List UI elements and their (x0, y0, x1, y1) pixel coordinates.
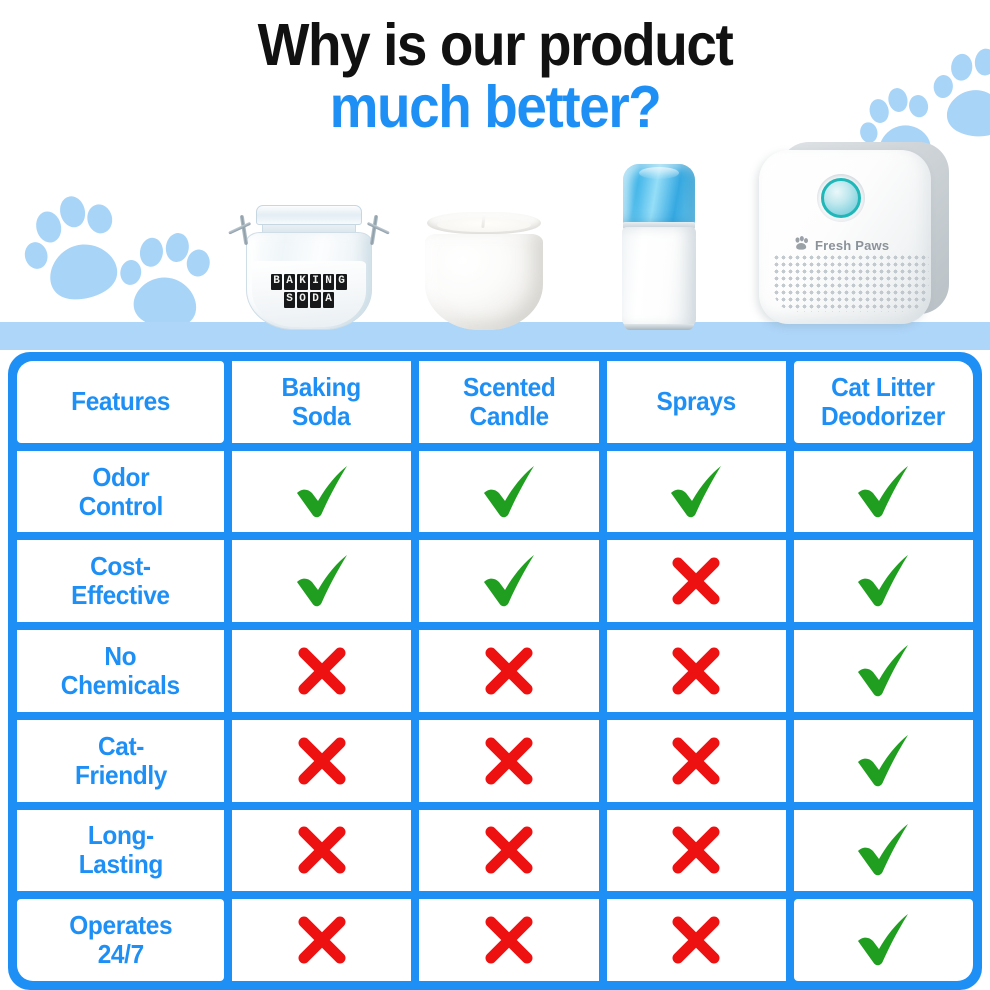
table-row: OdorControl (17, 451, 973, 533)
cell-long-lasting-scented-candle (419, 810, 598, 892)
feature-label: Operates24/7 (69, 911, 172, 969)
table-header-cell-baking-soda: BakingSoda (232, 361, 411, 443)
device-power-button (817, 174, 865, 222)
cell-operates-24-7-baking-soda (232, 899, 411, 981)
product-baking-soda-jar: BAKING SODA (238, 205, 380, 330)
table-row: Cat-Friendly (17, 720, 973, 802)
cell-odor-control-sprays (607, 451, 786, 533)
feature-cell-odor-control: OdorControl (17, 451, 224, 533)
cross-icon (481, 912, 537, 968)
cell-no-chemicals-scented-candle (419, 630, 598, 712)
cell-cat-friendly-sprays (607, 720, 786, 802)
check-icon (291, 552, 353, 610)
check-icon (665, 463, 727, 521)
cross-icon (294, 733, 350, 789)
check-icon (291, 463, 353, 521)
feature-label: Cat-Friendly (74, 732, 166, 790)
feature-label: Cost-Effective (71, 552, 169, 610)
cell-odor-control-cat-litter-deodorizer (794, 451, 973, 533)
jar-label-tile: D (310, 292, 321, 308)
cell-operates-24-7-sprays (607, 899, 786, 981)
table-row: Operates24/7 (17, 899, 973, 981)
feature-cell-long-lasting: Long-Lasting (17, 810, 224, 892)
table-header-cell-sprays: Sprays (607, 361, 786, 443)
jar-label-tile: S (284, 292, 295, 308)
jar-label-tile: G (336, 274, 347, 290)
cross-icon (481, 643, 537, 699)
jar-label-tile: I (310, 274, 321, 290)
cell-odor-control-scented-candle (419, 451, 598, 533)
cell-cost-effective-scented-candle (419, 540, 598, 622)
cell-long-lasting-baking-soda (232, 810, 411, 892)
check-icon (478, 463, 540, 521)
cell-operates-24-7-scented-candle (419, 899, 598, 981)
comparison-table: FeaturesBakingSodaScentedCandleSpraysCat… (8, 352, 982, 990)
table-header-cell-scented-candle: ScentedCandle (419, 361, 598, 443)
cross-icon (481, 822, 537, 878)
column-header-label: Features (71, 387, 170, 416)
table-row: Long-Lasting (17, 810, 973, 892)
cross-icon (481, 733, 537, 789)
product-lineup: BAKING SODA (0, 130, 990, 355)
feature-cell-cost-effective: Cost-Effective (17, 540, 224, 622)
paw-logo-icon (793, 236, 810, 255)
cell-cat-friendly-baking-soda (232, 720, 411, 802)
check-icon (852, 552, 914, 610)
table-row: Cost-Effective (17, 540, 973, 622)
cell-no-chemicals-sprays (607, 630, 786, 712)
cross-icon (294, 643, 350, 699)
check-icon (852, 732, 914, 790)
feature-label: NoChemicals (61, 642, 180, 700)
cell-long-lasting-sprays (607, 810, 786, 892)
check-icon (478, 552, 540, 610)
cross-icon (668, 912, 724, 968)
column-header-label: Cat LitterDeodorizer (821, 373, 945, 431)
cross-icon (668, 822, 724, 878)
title-line-primary: Why is our product (35, 14, 956, 76)
device-vent-grille (773, 254, 929, 312)
product-cat-litter-deodorizer: Fresh Paws (753, 140, 953, 330)
product-scented-candle (425, 212, 543, 330)
check-icon (852, 463, 914, 521)
cross-icon (668, 553, 724, 609)
cell-cost-effective-sprays (607, 540, 786, 622)
comparison-infographic: Why is our product much better? (0, 0, 990, 990)
table-row: NoChemicals (17, 630, 973, 712)
cell-cat-friendly-scented-candle (419, 720, 598, 802)
check-icon (852, 821, 914, 879)
jar-label-tile: O (297, 292, 308, 308)
check-icon (852, 911, 914, 969)
column-header-label: BakingSoda (282, 373, 361, 431)
cell-cost-effective-cat-litter-deodorizer (794, 540, 973, 622)
cell-cost-effective-baking-soda (232, 540, 411, 622)
column-header-label: Sprays (656, 387, 735, 416)
page-title: Why is our product much better? (0, 14, 990, 138)
device-brand-label: Fresh Paws (815, 238, 889, 253)
cell-cat-friendly-cat-litter-deodorizer (794, 720, 973, 802)
feature-label: OdorControl (78, 463, 162, 521)
cell-long-lasting-cat-litter-deodorizer (794, 810, 973, 892)
product-spray-can (617, 164, 701, 330)
jar-label-tile: A (284, 274, 295, 290)
feature-cell-cat-friendly: Cat-Friendly (17, 720, 224, 802)
jar-label-tile: B (271, 274, 282, 290)
cell-no-chemicals-cat-litter-deodorizer (794, 630, 973, 712)
cell-odor-control-baking-soda (232, 451, 411, 533)
cross-icon (294, 912, 350, 968)
feature-label: Long-Lasting (78, 821, 162, 879)
jar-label-tile: K (297, 274, 308, 290)
jar-label-tile: N (323, 274, 334, 290)
feature-cell-no-chemicals: NoChemicals (17, 630, 224, 712)
title-line-secondary: much better? (35, 76, 956, 138)
table-header-row: FeaturesBakingSodaScentedCandleSpraysCat… (17, 361, 973, 443)
table-header-cell-features: Features (17, 361, 224, 443)
check-icon (852, 642, 914, 700)
table-header-cell-cat-litter-deodorizer: Cat LitterDeodorizer (794, 361, 973, 443)
jar-label-tile: A (323, 292, 334, 308)
cross-icon (294, 822, 350, 878)
column-header-label: ScentedCandle (463, 373, 555, 431)
cell-operates-24-7-cat-litter-deodorizer (794, 899, 973, 981)
feature-cell-operates-24-7: Operates24/7 (17, 899, 224, 981)
cross-icon (668, 643, 724, 699)
cell-no-chemicals-baking-soda (232, 630, 411, 712)
cross-icon (668, 733, 724, 789)
jar-label: BAKING SODA (271, 274, 347, 308)
